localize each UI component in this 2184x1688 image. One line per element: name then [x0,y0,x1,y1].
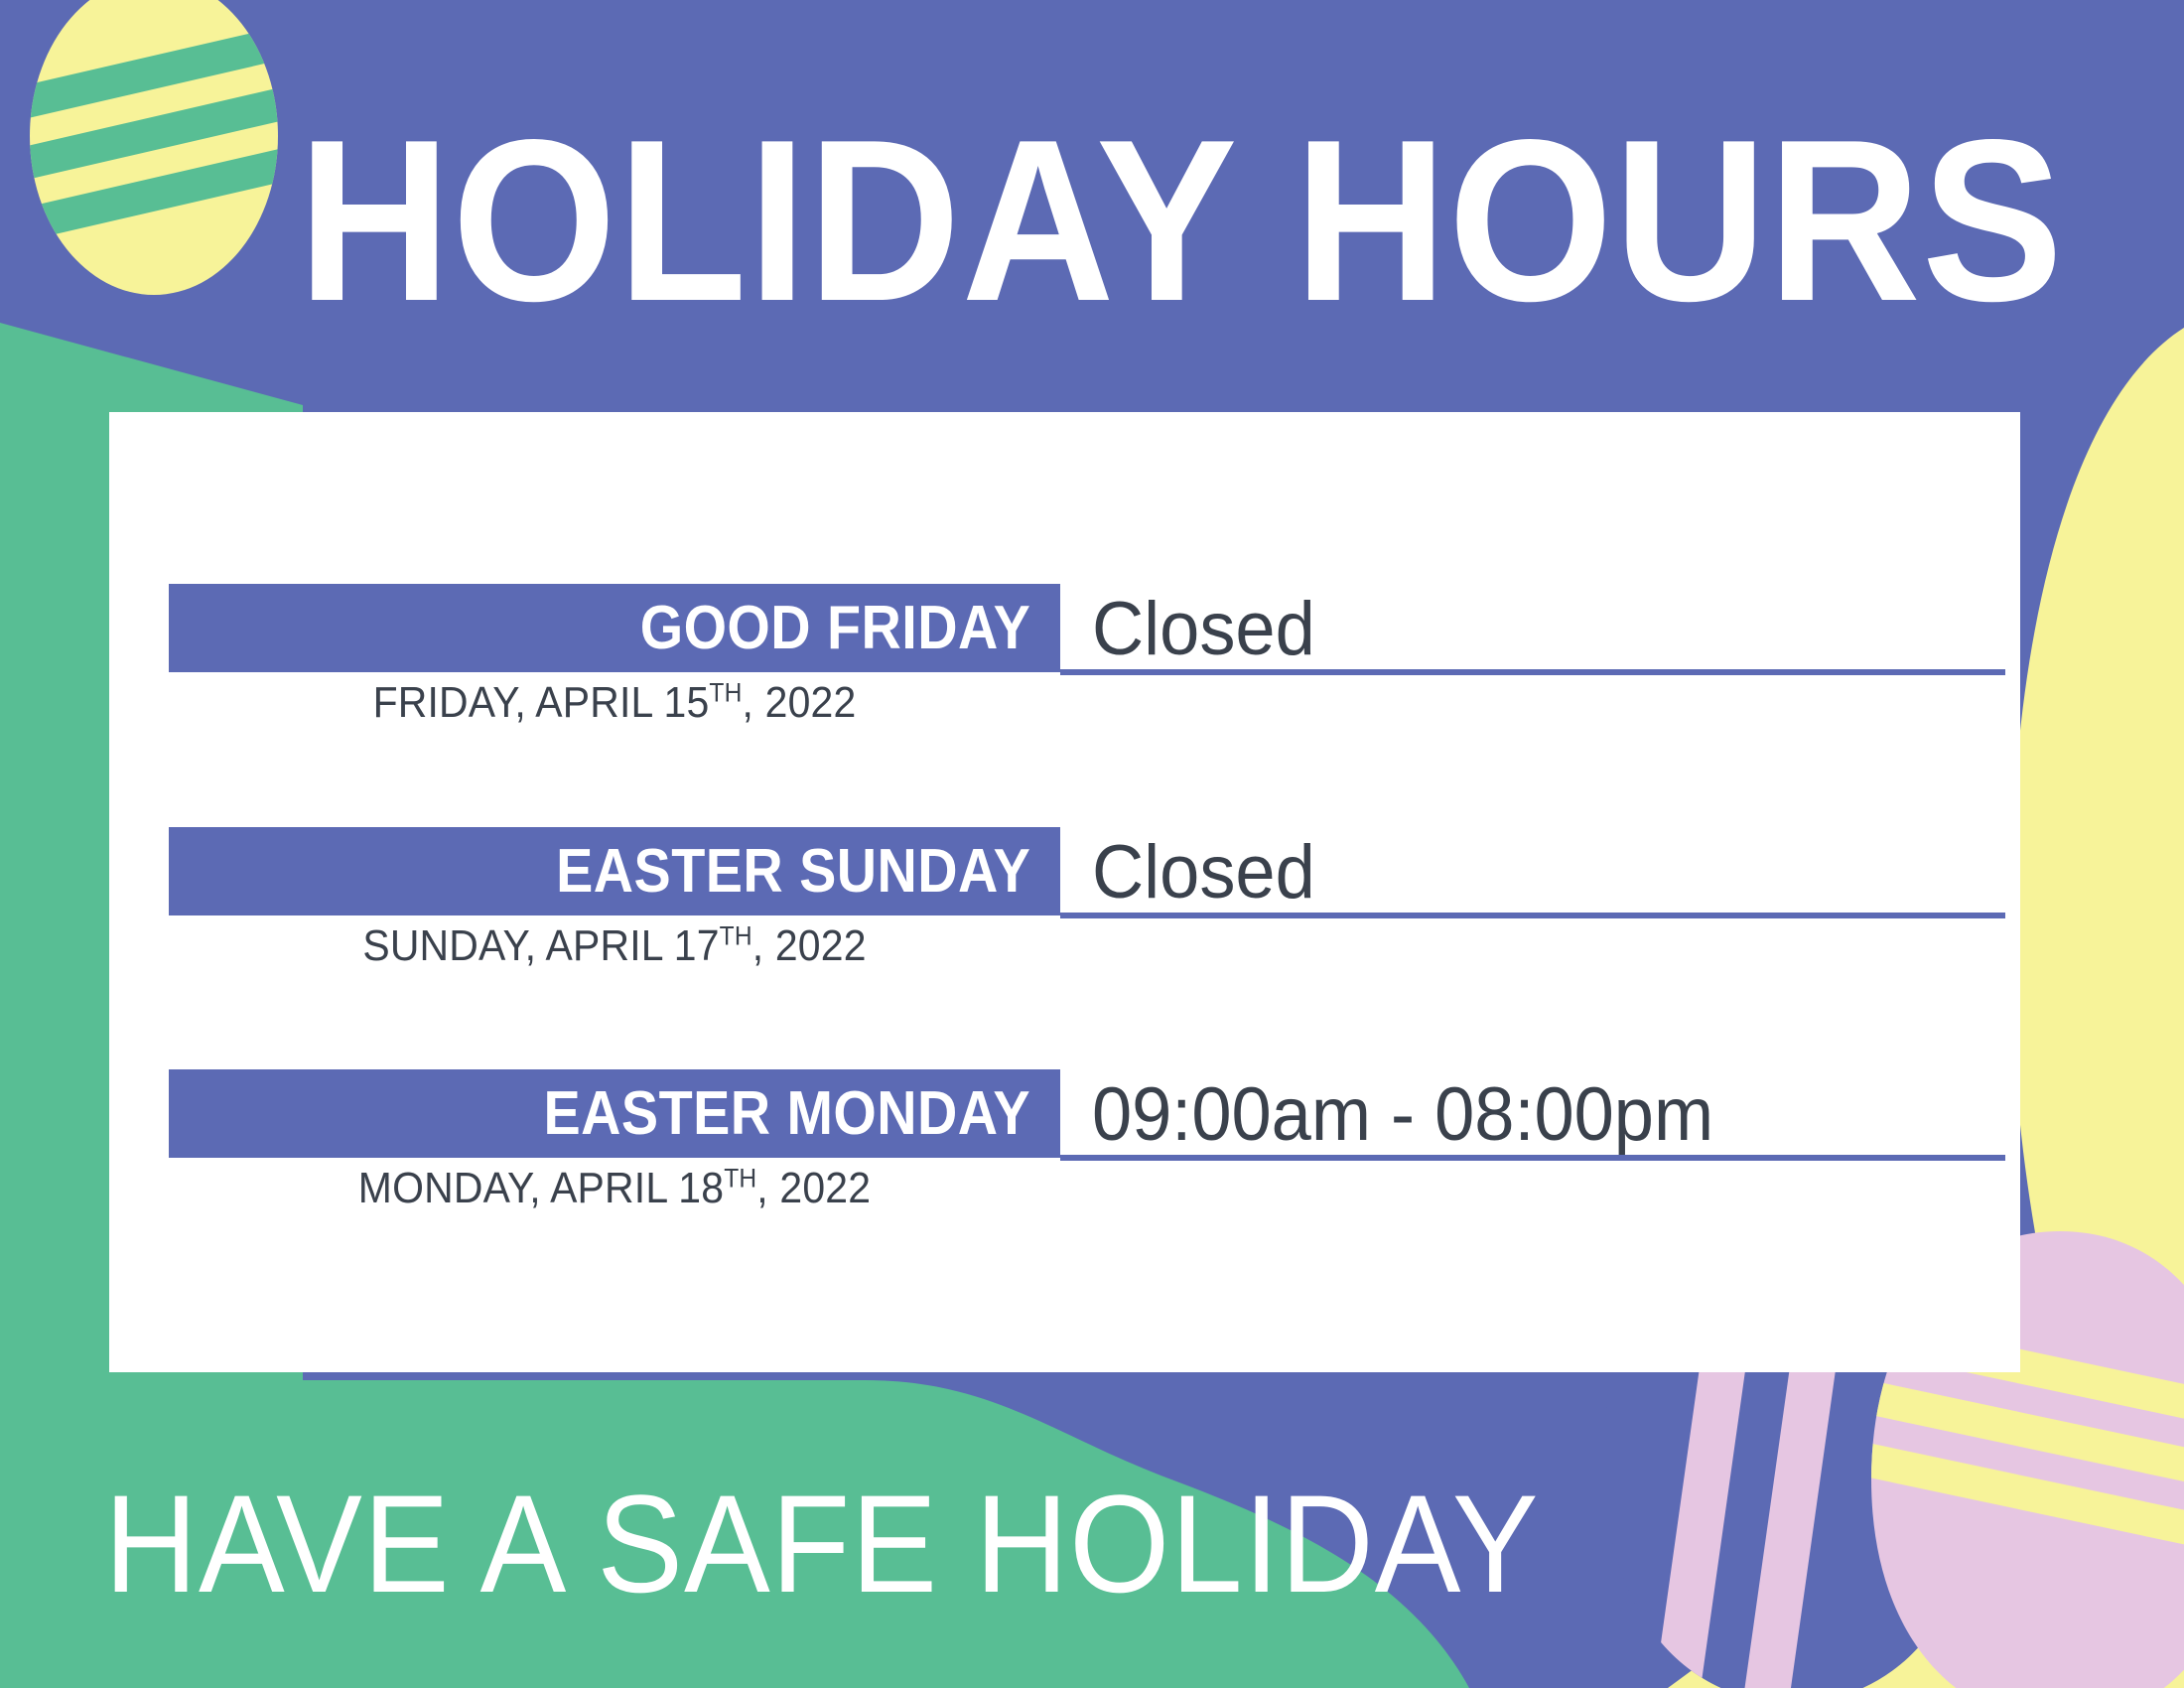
hours-underline [1060,1155,2005,1161]
holiday-label: EASTER MONDAY [543,1083,1030,1145]
holiday-date-prefix: MONDAY, APRIL 18 [358,1164,724,1212]
hours-underline [1060,913,2005,918]
holiday-label: EASTER SUNDAY [556,841,1030,903]
holiday-date-suffix: , 2022 [743,678,857,727]
holiday-hours-value: Closed [1092,833,1315,913]
holiday-hours-value: Closed [1092,590,1315,669]
holiday-label: GOOD FRIDAY [639,598,1030,659]
holiday-date-ordinal: TH [709,677,742,707]
holiday-date-ordinal: TH [720,920,752,950]
holiday-label-bar: GOOD FRIDAY [169,584,1060,672]
page-title: HOLIDAY HOURS [298,107,1850,336]
holiday-date-suffix: , 2022 [752,921,867,970]
holiday-date: FRIDAY, APRIL 15TH, 2022 [200,675,1028,731]
holiday-date-prefix: SUNDAY, APRIL 17 [362,921,719,970]
holiday-hours-poster: HOLIDAY HOURS GOOD FRIDAY FRIDAY, APRIL … [0,0,2184,1688]
schedule-rows: GOOD FRIDAY FRIDAY, APRIL 15TH, 2022 Clo… [109,412,2020,1372]
holiday-hours-cell: Closed [1060,827,2020,918]
holiday-hours-cell: 09:00am - 08:00pm [1060,1069,2020,1161]
holiday-hours-cell: Closed [1060,584,2020,675]
holiday-hours-value: 09:00am - 08:00pm [1092,1075,1713,1155]
holiday-date-suffix: , 2022 [756,1164,871,1212]
hours-underline [1060,669,2005,675]
holiday-date: MONDAY, APRIL 18TH, 2022 [200,1161,1028,1216]
holiday-label-bar: EASTER MONDAY [169,1069,1060,1158]
holiday-label-bar: EASTER SUNDAY [169,827,1060,915]
footer-message: HAVE A SAFE HOLIDAY [104,1470,1540,1618]
holiday-date-ordinal: TH [724,1163,756,1193]
holiday-date-prefix: FRIDAY, APRIL 15 [373,678,710,727]
holiday-date: SUNDAY, APRIL 17TH, 2022 [200,918,1028,974]
